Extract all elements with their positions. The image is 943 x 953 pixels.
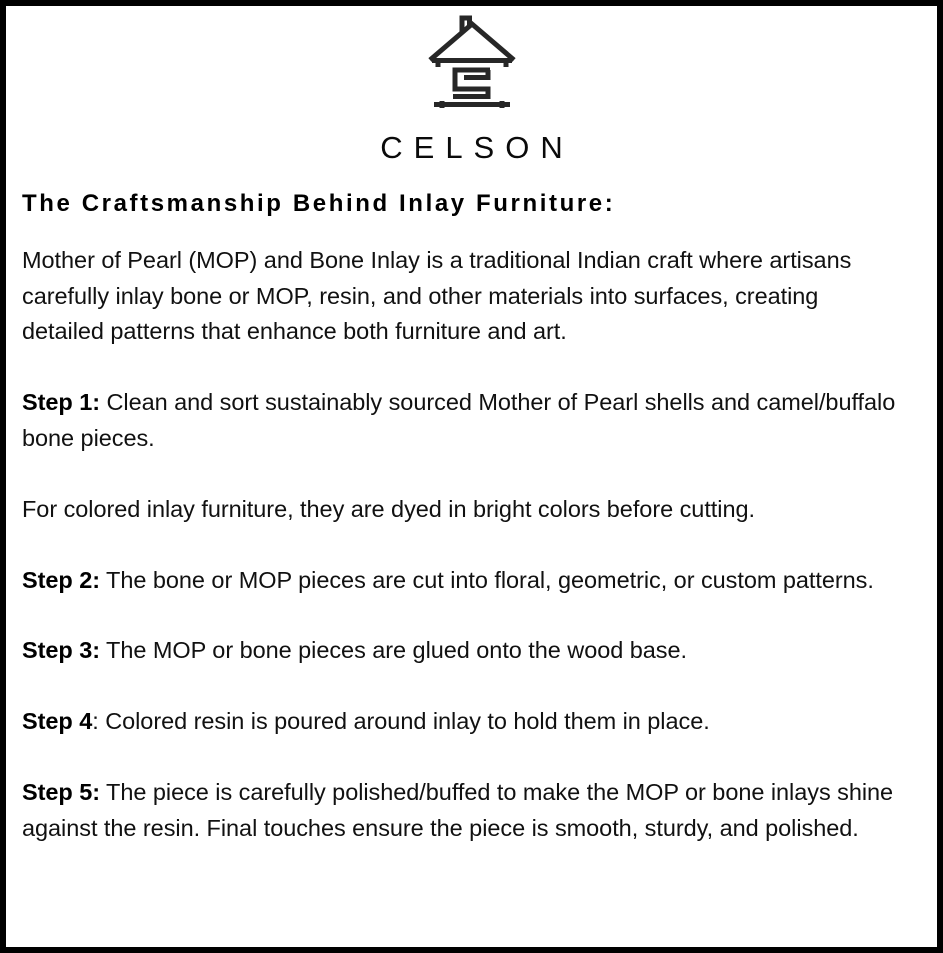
brand-wordmark: CELSON [16, 132, 927, 163]
step-3-label: Step 3: [22, 637, 100, 663]
step-1-text: Clean and sort sustainably sourced Mothe… [22, 389, 895, 451]
step-1-label: Step 1: [22, 389, 100, 415]
house-monogram-logo-icon [426, 15, 518, 115]
paragraph-step-3: Step 3: The MOP or bone pieces are glued… [22, 633, 897, 669]
step-4-text: Colored resin is poured around inlay to … [99, 708, 710, 734]
step-2-label: Step 2: [22, 567, 100, 593]
paragraph-step-2: Step 2: The bone or MOP pieces are cut i… [22, 563, 897, 599]
paragraph-step-1: Step 1: Clean and sort sustainably sourc… [22, 385, 897, 457]
step-4-label: Step 4 [22, 708, 92, 734]
poster-inner: CELSON The Craftsmanship Behind Inlay Fu… [6, 6, 937, 947]
page-title: The Craftsmanship Behind Inlay Furniture… [22, 190, 927, 219]
poster-card: CELSON The Craftsmanship Behind Inlay Fu… [0, 0, 943, 953]
body-copy: Mother of Pearl (MOP) and Bone Inlay is … [22, 243, 927, 847]
step-3-text: The MOP or bone pieces are glued onto th… [100, 637, 687, 663]
step-5-label: Step 5: [22, 779, 100, 805]
paragraph-step-5: Step 5: The piece is carefully polished/… [22, 775, 897, 847]
paragraph-intro: Mother of Pearl (MOP) and Bone Inlay is … [22, 243, 897, 350]
paragraph-step-4: Step 4: Colored resin is poured around i… [22, 704, 897, 740]
intro-text: Mother of Pearl (MOP) and Bone Inlay is … [22, 247, 851, 345]
brand-header: CELSON [16, 6, 927, 163]
step-2-text: The bone or MOP pieces are cut into flor… [100, 567, 874, 593]
colored-note-text: For colored inlay furniture, they are dy… [22, 496, 755, 522]
step-5-text: The piece is carefully polished/buffed t… [22, 779, 893, 841]
paragraph-colored-note: For colored inlay furniture, they are dy… [22, 492, 897, 528]
